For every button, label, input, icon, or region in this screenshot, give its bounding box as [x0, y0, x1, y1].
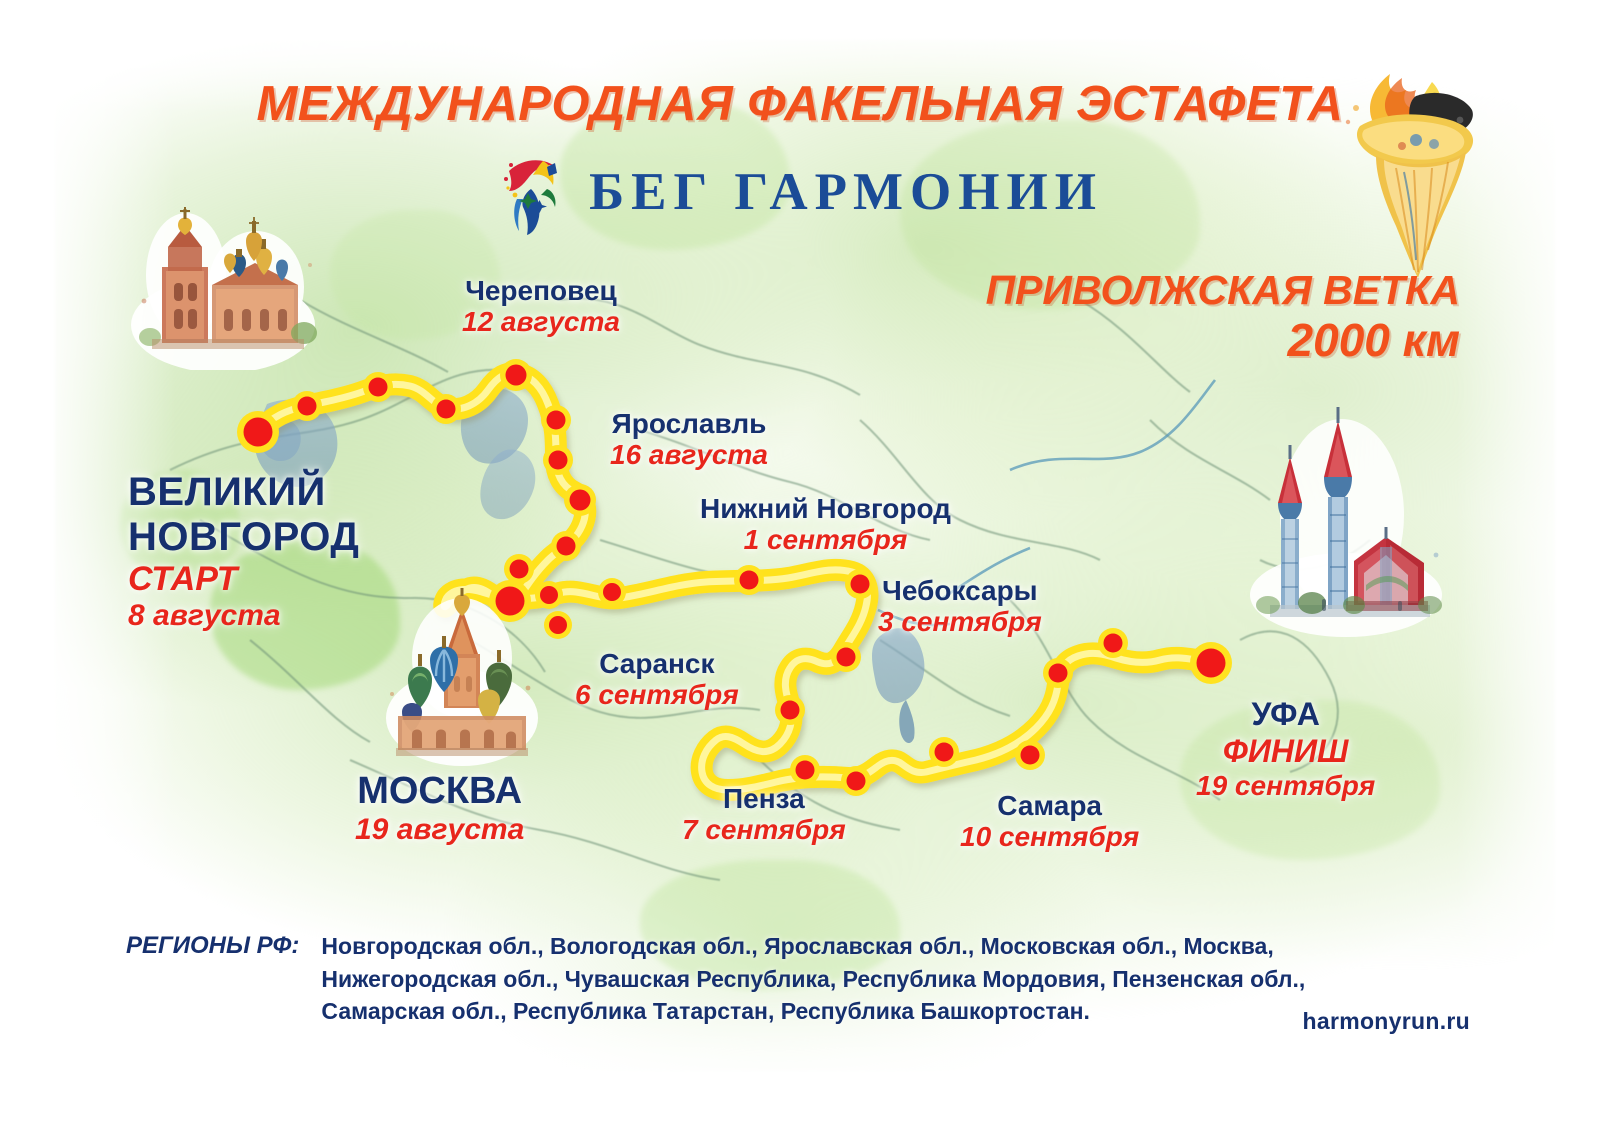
city-label-cherepovets: Череповец 12 августа — [462, 275, 620, 339]
harmony-run-logo-icon — [497, 143, 563, 240]
route-dot-finish — [1190, 642, 1232, 684]
city-name: Самара — [960, 790, 1139, 821]
route-dot-nizhny — [734, 565, 764, 595]
city-label-cheboksary: Чебоксары 3 сентября — [878, 575, 1042, 639]
city-date: 6 сентября — [575, 679, 739, 711]
finish-marker: ФИНИШ — [1196, 733, 1375, 770]
city-name: Пенза — [682, 783, 846, 814]
city-label-ufa: УФА ФИНИШ 19 сентября — [1196, 697, 1375, 802]
city-name: Ярославль — [610, 408, 768, 439]
branch-distance: 2000 км — [986, 316, 1460, 366]
olympic-torch-icon — [1320, 60, 1510, 290]
city-name: ВЕЛИКИЙ — [128, 470, 359, 515]
city-label-yaroslavl: Ярославль 16 августа — [610, 408, 768, 472]
start-marker: СТАРТ — [128, 560, 359, 599]
regions-list: Новгородская обл., Вологодская обл., Яро… — [321, 930, 1305, 1028]
route-dot — [929, 737, 959, 767]
st-basils-cathedral-icon — [382, 588, 542, 768]
city-date: 7 сентября — [682, 814, 846, 846]
route-dot-yaroslavl — [564, 484, 596, 516]
route-dot — [544, 611, 572, 639]
city-date: 19 сентября — [1196, 770, 1375, 802]
route-dot — [1098, 628, 1128, 658]
route-dot-cheboksary — [845, 569, 875, 599]
branch-title-block: ПРИВОЛЖСКАЯ ВЕТКА 2000 км — [986, 268, 1460, 366]
route-dot — [598, 578, 626, 606]
route-dot — [431, 394, 461, 424]
brand-name: БЕГ ГАРМОНИИ — [589, 162, 1103, 222]
route-dot — [1043, 658, 1073, 688]
city-date: 10 сентября — [960, 821, 1139, 853]
route-dot-samara — [1015, 740, 1045, 770]
city-date: 16 августа — [610, 439, 768, 471]
city-date: 1 сентября — [700, 524, 951, 556]
poster-canvas: МЕЖДУНАРОДНАЯ ФАКЕЛЬНАЯ ЭСТАФЕТА — [0, 0, 1600, 1131]
route-dot — [831, 642, 861, 672]
city-date: 12 августа — [462, 306, 620, 338]
route-dot-penza — [790, 755, 820, 785]
city-date: 19 августа — [355, 813, 524, 848]
city-name: МОСКВА — [355, 770, 524, 813]
city-name-line2: НОВГОРОД — [128, 515, 359, 560]
regions-line-2: Нижегородская обл., Чувашская Республика… — [321, 963, 1305, 996]
route-dot — [363, 372, 393, 402]
city-label-penza: Пенза 7 сентября — [682, 783, 846, 847]
regions-line-3: Самарская обл., Республика Татарстан, Ре… — [321, 995, 1305, 1028]
city-label-moscow: МОСКВА 19 августа — [355, 770, 524, 847]
city-name: Череповец — [462, 275, 620, 306]
city-label-nizhny-novgorod: Нижний Новгород 1 сентября — [700, 493, 951, 557]
city-label-saransk: Саранск 6 сентября — [575, 648, 739, 712]
route-dot-cherepovets — [500, 359, 532, 391]
city-name: УФА — [1196, 697, 1375, 733]
city-date: 8 августа — [128, 599, 359, 634]
route-dot — [551, 531, 581, 561]
route-dot-saransk — [775, 695, 805, 725]
route-dot — [541, 405, 571, 435]
regions-label: РЕГИОНЫ РФ: — [126, 930, 299, 960]
route-dot — [292, 391, 322, 421]
regions-block: РЕГИОНЫ РФ: Новгородская обл., Вологодск… — [126, 930, 1305, 1028]
city-name: Саранск — [575, 648, 739, 679]
novgorod-cathedral-icon — [128, 205, 318, 370]
city-date: 3 сентября — [878, 606, 1042, 638]
city-label-veliky-novgorod: ВЕЛИКИЙ НОВГОРОД СТАРТ 8 августа — [128, 470, 359, 634]
route-dot — [504, 554, 534, 584]
route-dot — [543, 445, 573, 475]
city-name: Чебоксары — [878, 575, 1042, 606]
ufa-mosque-icon — [1246, 405, 1446, 640]
city-name: Нижний Новгород — [700, 493, 951, 524]
regions-line-1: Новгородская обл., Вологодская обл., Яро… — [321, 930, 1305, 963]
city-label-samara: Самара 10 сентября — [960, 790, 1139, 854]
website-link[interactable]: harmonyrun.ru — [1303, 1008, 1470, 1035]
route-dot-start — [237, 411, 279, 453]
branch-title: ПРИВОЛЖСКАЯ ВЕТКА — [986, 267, 1460, 313]
